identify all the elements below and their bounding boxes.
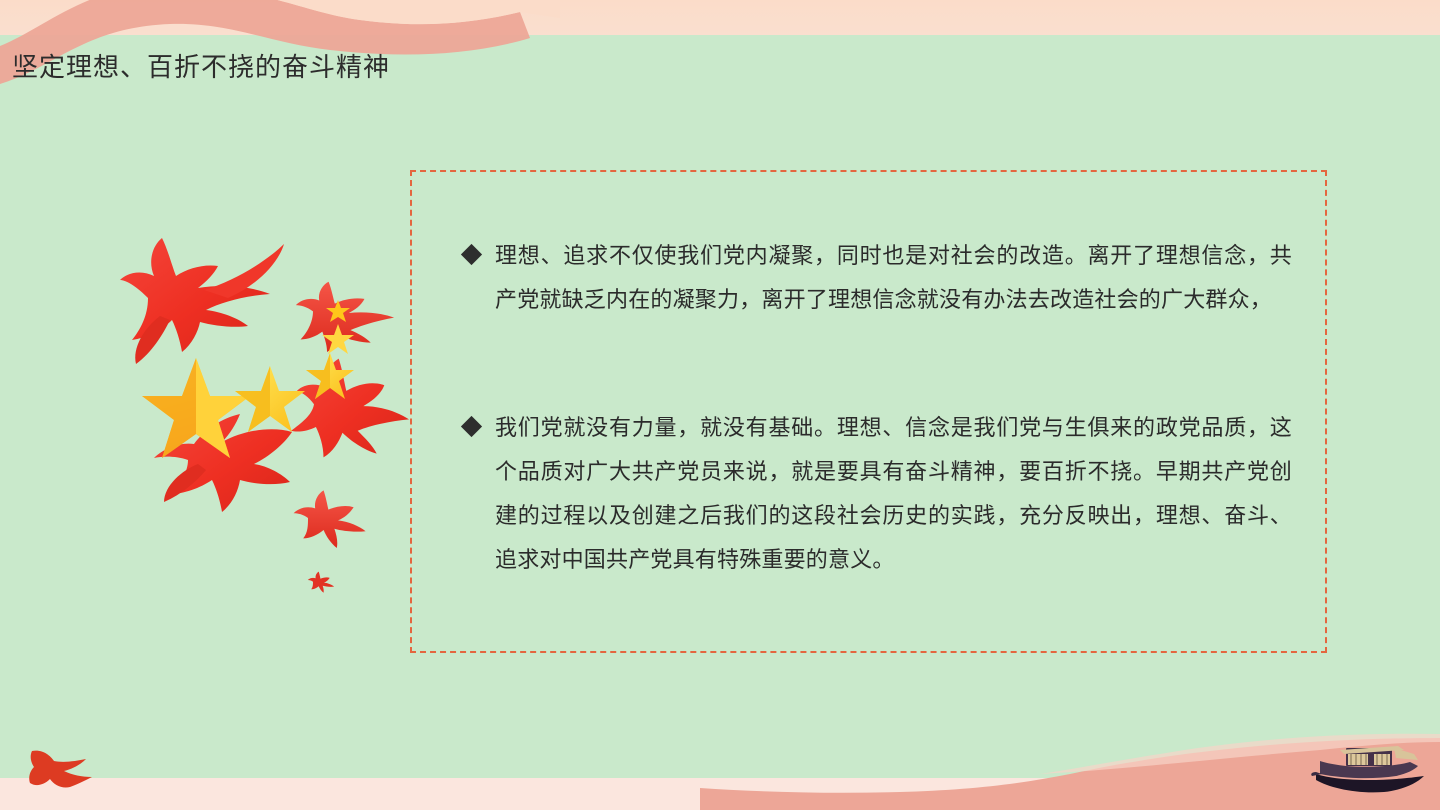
content-dashed-box: 理想、追求不仅使我们党内凝聚，同时也是对社会的改造。离开了理想信念，共产党就缺乏… <box>410 170 1327 653</box>
dove-icon-tiny-bottom <box>308 572 334 593</box>
diamond-bullet-icon <box>461 416 482 437</box>
list-item: 我们党就没有力量，就没有基础。理想、信念是我们党与生俱来的政党品质，这个品质对广… <box>464 406 1292 582</box>
dove-icon-upper-right <box>296 282 394 352</box>
page-title: 坚定理想、百折不挠的奋斗精神 <box>12 50 390 84</box>
red-boat-icon <box>1310 742 1430 798</box>
dove-icon-small-lower <box>294 490 366 548</box>
red-dove-icon-bottom-left <box>28 745 94 795</box>
dove-icon-middle-right <box>291 359 409 458</box>
dove-icon-large <box>120 238 284 364</box>
bullet-list: 理想、追求不仅使我们党内凝聚，同时也是对社会的改造。离开了理想信念，共产党就缺乏… <box>464 234 1292 582</box>
list-item: 理想、追求不仅使我们党内凝聚，同时也是对社会的改造。离开了理想信念，共产党就缺乏… <box>464 234 1292 322</box>
doves-stars-illustration <box>118 228 448 618</box>
star-icon-medium <box>235 366 305 432</box>
slide-root: 坚定理想、百折不挠的奋斗精神 <box>0 0 1440 810</box>
diamond-bullet-icon <box>461 244 482 265</box>
bullet-paragraph: 我们党就没有力量，就没有基础。理想、信念是我们党与生俱来的政党品质，这个品质对广… <box>495 406 1292 582</box>
bullet-paragraph: 理想、追求不仅使我们党内凝聚，同时也是对社会的改造。离开了理想信念，共产党就缺乏… <box>495 234 1292 322</box>
